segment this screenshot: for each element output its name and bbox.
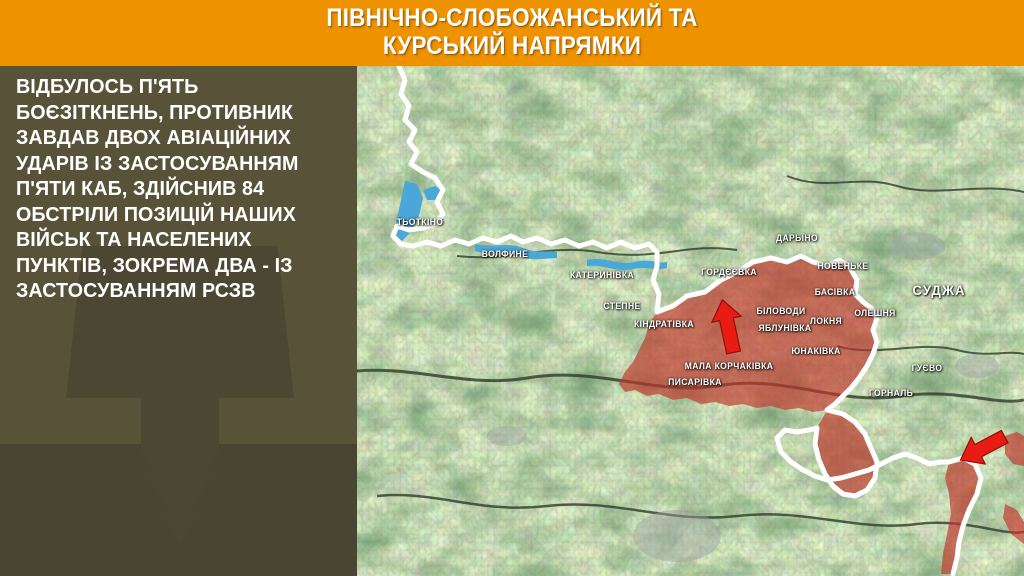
satellite-map[interactable]: ТЬОТКІНОВОЛФИНЕКАТЕРИНІВКАСТЕПНЕКІНДРАТІ… — [357, 66, 1024, 576]
header-banner: ПІВНІЧНО-СЛОБОЖАНСЬКИЙ ТА КУРСЬКИЙ НАПРЯ… — [0, 0, 1024, 66]
summary-panel: ВІДБУЛОСЬ П'ЯТЬ БОЄЗІТКНЕНЬ, ПРОТИВНИК З… — [0, 66, 357, 576]
infographic-map-slide: ПІВНІЧНО-СЛОБОЖАНСЬКИЙ ТА КУРСЬКИЙ НАПРЯ… — [0, 0, 1024, 576]
summary-text: ВІДБУЛОСЬ П'ЯТЬ БОЄЗІТКНЕНЬ, ПРОТИВНИК З… — [16, 74, 333, 304]
page-title: ПІВНІЧНО-СЛОБОЖАНСЬКИЙ ТА КУРСЬКИЙ НАПРЯ… — [51, 4, 973, 60]
map-overlay-layer — [357, 66, 1024, 576]
